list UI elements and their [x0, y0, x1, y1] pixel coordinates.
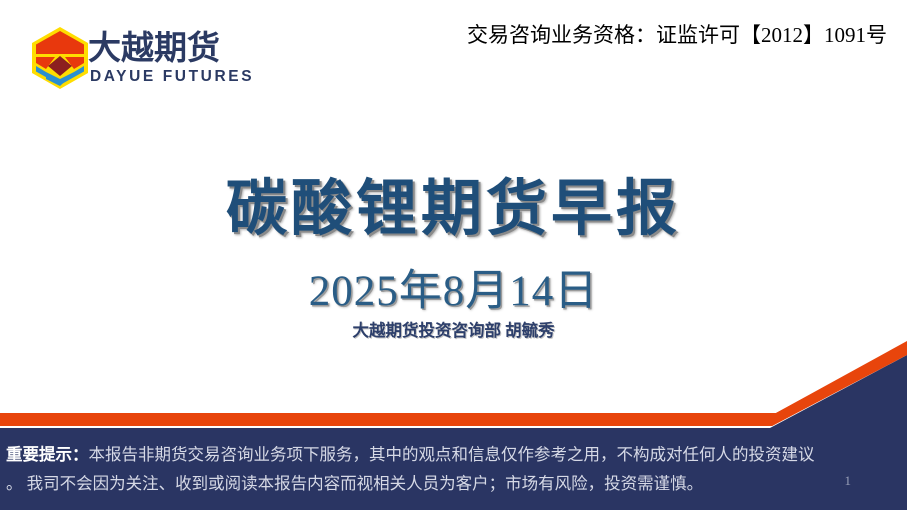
- disclaimer-banner: 重要提示：本报告非期货交易咨询业务项下服务，其中的观点和信息仅作参考之用，不构成…: [0, 440, 907, 510]
- hexagon-cube-logo-icon: [30, 26, 90, 90]
- upper-white-area: [0, 340, 907, 410]
- logo-wordmark-en: DAYUE FUTURES: [90, 68, 254, 86]
- disclaimer-line-1-text: 本报告非期货交易咨询业务项下服务，其中的观点和信息仅作参考之用，不构成对任何人的…: [89, 445, 815, 464]
- brand-logo: 大越期货 DAYUE FUTURES: [30, 24, 240, 92]
- qualification-line: 交易咨询业务资格：证监许可【2012】1091号: [467, 19, 887, 49]
- disclaimer-line-1: 重要提示：本报告非期货交易咨询业务项下服务，其中的观点和信息仅作参考之用，不构成…: [6, 440, 907, 469]
- report-date: 2025年8月14日: [0, 256, 907, 318]
- page-title: 碳酸锂期货早报: [0, 158, 907, 247]
- logo-wordmark-cn: 大越期货: [88, 28, 238, 68]
- disclaimer-line-2: 。 我司不会因为关注、收到或阅读本报告内容而视相关人员为客户；市场有风险，投资需…: [6, 469, 907, 498]
- page-number: 1: [845, 473, 852, 489]
- contact-department: 大越期货投资咨询部 胡毓秀: [0, 320, 907, 342]
- logo-cn-text: 大越期货: [88, 28, 220, 67]
- slide-root: 大越期货 DAYUE FUTURES 交易咨询业务资格：证监许可【2012】10…: [0, 0, 907, 510]
- disclaimer-label: 重要提示：: [6, 445, 89, 464]
